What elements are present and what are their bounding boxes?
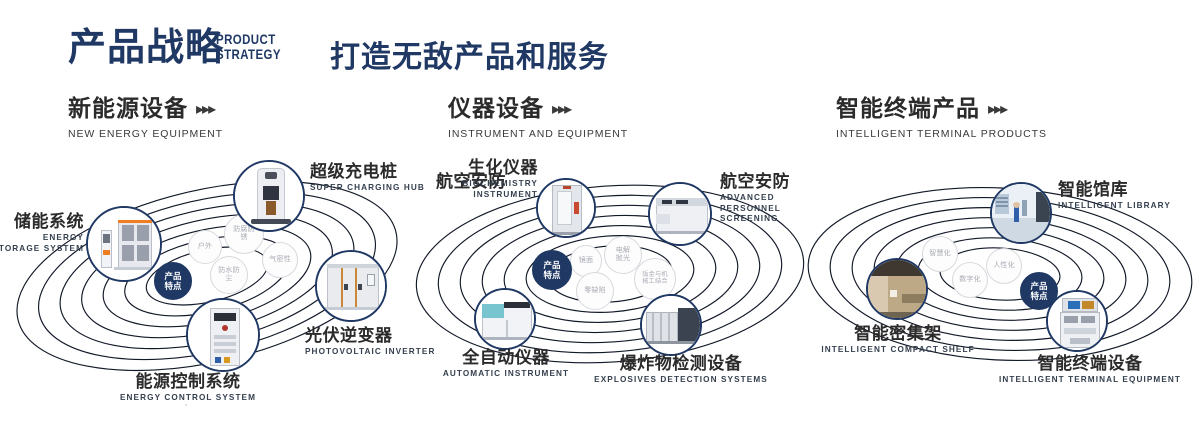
section-heading-cn-text: 新能源设备 <box>68 95 188 121</box>
caption-cn: 生化仪器 <box>460 158 538 177</box>
chevron-right-icon: ▸▸▸ <box>552 97 570 123</box>
feature-bubble-humanized: 人性化 <box>986 248 1022 284</box>
caption-cn: 智能密集架 <box>810 324 986 343</box>
section-heading-intelligent-terminal: 智能终端产品▸▸▸ INTELLIGENT TERMINAL PRODUCTS <box>836 95 1047 140</box>
automatic-instrument-photo <box>476 290 534 348</box>
caption-en: INTELLIGENT TERMINAL EQUIPMENT <box>990 375 1190 386</box>
energy-control-photo <box>188 300 258 370</box>
cluster-instrument: 镜面 电解抛光 钣金与机械工结合 零缺陷 产品特点 航空安防 生化仪器 BIOC… <box>398 150 818 412</box>
node-photovoltaic-inverter[interactable] <box>315 250 387 322</box>
compact-shelf-photo <box>868 260 926 318</box>
cluster-new-energy: 户外 防腐防锈 防水防尘 气密性 产品特点 储能系统 ENERGY STORAG… <box>0 150 420 412</box>
caption-cn: 能源控制系统 <box>88 372 288 391</box>
caption-cn: 智能馆库 <box>1058 180 1188 199</box>
chevron-right-icon: ▸▸▸ <box>196 97 214 123</box>
feature-bubble-waterproof: 防水防尘 <box>210 256 248 294</box>
page-title-english-line1: PRODUCT <box>216 32 281 47</box>
caption-biochemistry-instrument: 生化仪器 BIOCHEMISTRY INSTRUMENT <box>460 158 538 200</box>
feature-bubble-label: 电解抛光 <box>613 247 633 263</box>
feature-bubble-label: 户外 <box>198 243 212 251</box>
caption-cn: 爆炸物检测设备 <box>586 354 776 373</box>
feature-bubble-label: 气密性 <box>267 256 293 264</box>
section-heading-cn-text: 智能终端产品 <box>836 95 980 121</box>
biochemistry-photo <box>538 180 594 236</box>
energy-storage-photo <box>88 208 160 280</box>
pv-inverter-photo <box>317 252 385 320</box>
caption-en: EXPLOSIVES DETECTION SYSTEMS <box>586 375 776 386</box>
feature-bubble-airtight: 气密性 <box>262 242 298 278</box>
explosives-detection-photo <box>642 296 700 354</box>
page-subtitle: 打造无敌产品和服务 <box>330 32 609 76</box>
core-bubble-product-features: 产品特点 <box>532 250 572 290</box>
node-intelligent-compact-shelf[interactable] <box>866 258 928 320</box>
caption-en: BIOCHEMISTRY INSTRUMENT <box>460 179 538 200</box>
slide-header: 产品战略 PRODUCT STRATEGY 打造无敌产品和服务 <box>0 0 1200 92</box>
node-energy-control-system[interactable] <box>186 298 260 372</box>
intelligent-library-photo <box>992 184 1050 242</box>
page-title-english-line2: STRATEGY <box>216 47 281 62</box>
feature-bubble-label: 零缺陷 <box>582 287 608 295</box>
feature-bubble-label: 镜面 <box>579 257 593 265</box>
chevron-right-icon: ▸▸▸ <box>988 97 1006 123</box>
spacer <box>185 404 187 406</box>
caption-automatic-instrument: 全自动仪器 AUTOMATIC INSTRUMENT <box>418 348 594 380</box>
section-heading-cn: 智能终端产品▸▸▸ <box>836 95 1047 123</box>
node-energy-storage-system[interactable] <box>86 206 162 282</box>
node-super-charging-hub[interactable] <box>233 160 305 232</box>
terminal-equipment-photo <box>1048 292 1106 350</box>
caption-en: INTELLIGENT LIBRARY <box>1058 201 1188 212</box>
caption-energy-control-system: 能源控制系统 ENERGY CONTROL SYSTEM <box>88 372 288 404</box>
caption-explosives-detection: 爆炸物检测设备 EXPLOSIVES DETECTION SYSTEMS <box>586 354 776 386</box>
section-heading-cn: 新能源设备▸▸▸ <box>68 95 223 123</box>
feature-bubble-zerodefect: 零缺陷 <box>576 272 614 310</box>
section-heading-cn: 仪器设备▸▸▸ <box>448 95 628 123</box>
section-heading-instrument: 仪器设备▸▸▸ INSTRUMENT AND EQUIPMENT <box>448 95 628 140</box>
core-bubble-label: 产品特点 <box>542 260 562 280</box>
node-biochemistry-instrument[interactable] <box>536 178 596 238</box>
feature-bubble-label: 防水防尘 <box>218 267 240 283</box>
caption-en: AUTOMATIC INSTRUMENT <box>418 369 594 380</box>
caption-cn: 储能系统 <box>0 212 84 231</box>
screening-photo <box>650 184 710 244</box>
feature-bubble-digital: 数字化 <box>952 262 988 298</box>
slide-canvas: 产品战略 PRODUCT STRATEGY 打造无敌产品和服务 新能源设备▸▸▸… <box>0 0 1200 422</box>
caption-intelligent-compact-shelf: 智能密集架 INTELLIGENT COMPACT SHELF <box>810 324 986 356</box>
caption-intelligent-library: 智能馆库 INTELLIGENT LIBRARY <box>1058 180 1188 212</box>
section-heading-en: INTELLIGENT TERMINAL PRODUCTS <box>836 128 1047 140</box>
charging-hub-photo <box>235 162 303 230</box>
node-explosives-detection[interactable] <box>640 294 702 356</box>
feature-bubble-label: 数字化 <box>959 276 981 284</box>
page-title: 产品战略 <box>68 26 224 70</box>
feature-bubble-label: 钣金与机械工结合 <box>640 272 670 286</box>
caption-en: ENERGY STORAGE SYSTEM <box>0 233 84 254</box>
section-heading-cn-text: 仪器设备 <box>448 95 544 121</box>
caption-cn: 全自动仪器 <box>418 348 594 367</box>
section-heading-en: NEW ENERGY EQUIPMENT <box>68 128 223 140</box>
caption-cn: 智能终端设备 <box>990 354 1190 373</box>
feature-bubble-label: 智慧化 <box>929 250 951 258</box>
core-bubble-label: 产品特点 <box>163 271 183 291</box>
page-title-english: PRODUCT STRATEGY <box>216 32 281 62</box>
section-heading-en: INSTRUMENT AND EQUIPMENT <box>448 128 628 140</box>
node-automatic-instrument[interactable] <box>474 288 536 350</box>
caption-en: INTELLIGENT COMPACT SHELF <box>810 345 986 356</box>
feature-bubble-intelligent: 智慧化 <box>922 236 958 272</box>
caption-intelligent-terminal-equipment: 智能终端设备 INTELLIGENT TERMINAL EQUIPMENT <box>990 354 1190 386</box>
node-advanced-personnel-screening[interactable] <box>648 182 712 246</box>
node-intelligent-library[interactable] <box>990 182 1052 244</box>
caption-energy-storage-system: 储能系统 ENERGY STORAGE SYSTEM <box>0 212 84 254</box>
cluster-intelligent-terminal: 智慧化 数字化 人性化 产品特点 智能馆库 INTELLIGENT LIBRAR… <box>790 150 1200 412</box>
core-bubble-label: 产品特点 <box>1029 281 1049 301</box>
feature-bubble-label: 人性化 <box>993 262 1015 270</box>
section-heading-new-energy: 新能源设备▸▸▸ NEW ENERGY EQUIPMENT <box>68 95 223 140</box>
node-intelligent-terminal-equipment[interactable] <box>1046 290 1108 352</box>
caption-en: ENERGY CONTROL SYSTEM <box>88 393 288 404</box>
